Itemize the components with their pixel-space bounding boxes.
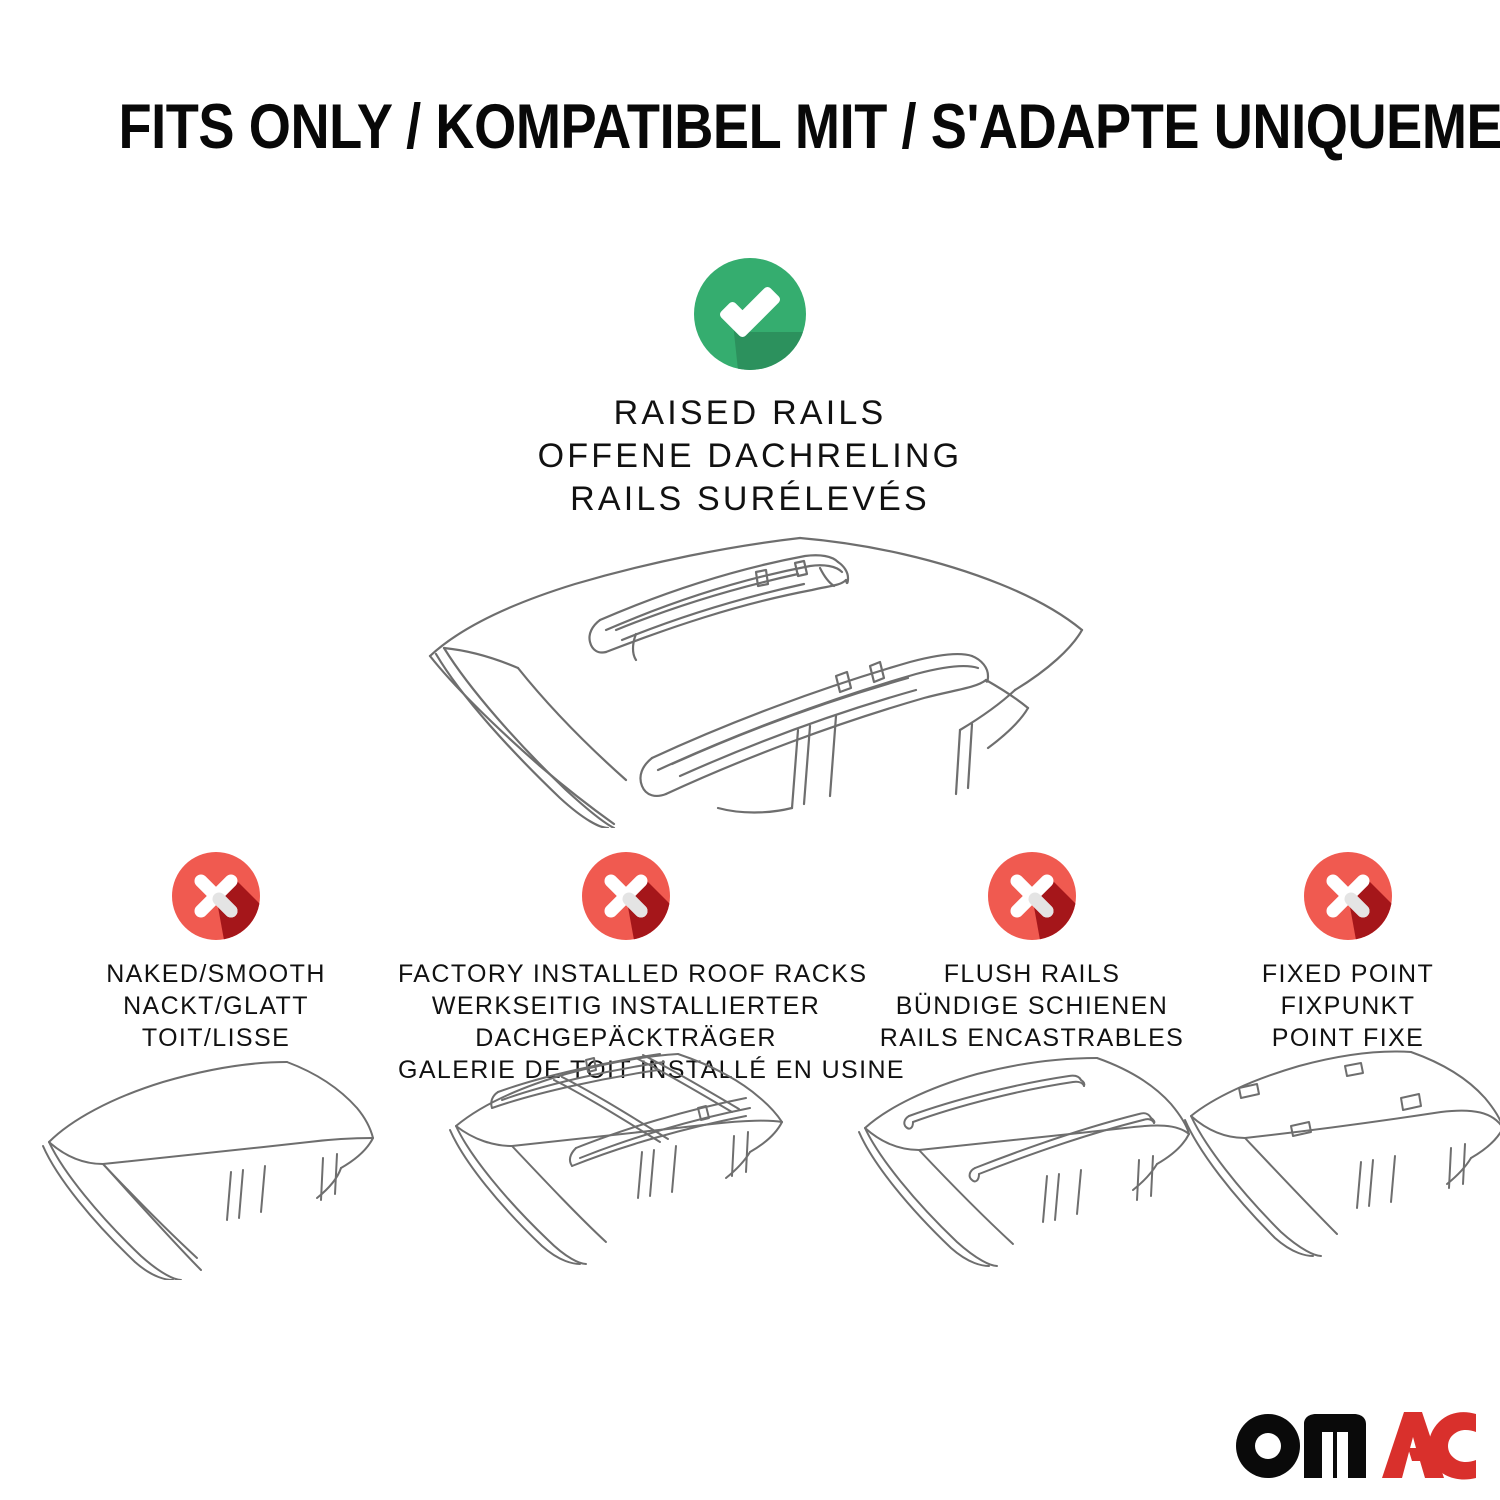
compatible-labels: RAISED RAILS OFFENE DACHRELING RAILS SUR…: [0, 392, 1500, 520]
logo-letter-m: [1304, 1414, 1366, 1478]
compatible-label-en: RAISED RAILS: [0, 392, 1500, 435]
incompatible-labels-fixed: FIXED POINT FIXPUNKT POINT FIXE: [1198, 958, 1498, 1054]
incompatible-labels-flush: FLUSH RAILS BÜNDIGE SCHIENEN RAILS ENCAS…: [852, 958, 1212, 1054]
car-roof-flush-rails-illustration: [857, 1050, 1207, 1285]
car-roof-naked-smooth-illustration: [41, 1050, 391, 1285]
label-fixed-en: FIXED POINT: [1198, 958, 1498, 990]
x-circle-icon: [172, 852, 260, 940]
label-flush-de: BÜNDIGE SCHIENEN: [852, 990, 1212, 1022]
label-factory-en: FACTORY INSTALLED ROOF RACKS: [398, 958, 854, 990]
x-circle-icon: [988, 852, 1076, 940]
omac-logo: OMAC: [1232, 1404, 1476, 1480]
label-flush-en: FLUSH RAILS: [852, 958, 1212, 990]
car-roof-factory-racks-illustration: [446, 1050, 806, 1290]
compatible-label-de: OFFENE DACHRELING: [0, 435, 1500, 478]
logo-letter-o: [1236, 1414, 1300, 1478]
car-roof-raised-rails-illustration: [400, 508, 1100, 828]
page-title-text: FITS ONLY / KOMPATIBEL MIT / S'ADAPTE UN…: [118, 96, 1500, 159]
car-roof-fixed-point-illustration: [1183, 1050, 1500, 1285]
incompatible-item-factory: FACTORY INSTALLED ROOF RACKS WERKSEITIG …: [398, 852, 854, 1086]
label-naked-de: NACKT/GLATT: [30, 990, 402, 1022]
label-naked-en: NAKED/SMOOTH: [30, 958, 402, 990]
compatible-section: RAISED RAILS OFFENE DACHRELING RAILS SUR…: [0, 258, 1500, 520]
page-title: FITS ONLY / KOMPATIBEL MIT / S'ADAPTE UN…: [0, 96, 1500, 159]
incompatible-item-naked: NAKED/SMOOTH NACKT/GLATT TOIT/LISSE: [30, 852, 402, 1054]
incompatible-item-flush: FLUSH RAILS BÜNDIGE SCHIENEN RAILS ENCAS…: [852, 852, 1212, 1054]
x-circle-icon: [582, 852, 670, 940]
incompatible-item-fixed: FIXED POINT FIXPUNKT POINT FIXE: [1198, 852, 1498, 1054]
check-circle-icon: [694, 258, 806, 370]
label-factory-de-1: WERKSEITIG INSTALLIERTER: [398, 990, 854, 1022]
incompatible-labels-naked: NAKED/SMOOTH NACKT/GLATT TOIT/LISSE: [30, 958, 402, 1054]
label-fixed-de: FIXPUNKT: [1198, 990, 1498, 1022]
x-circle-icon: [1304, 852, 1392, 940]
incompatible-section: NAKED/SMOOTH NACKT/GLATT TOIT/LISSE: [0, 852, 1500, 1292]
